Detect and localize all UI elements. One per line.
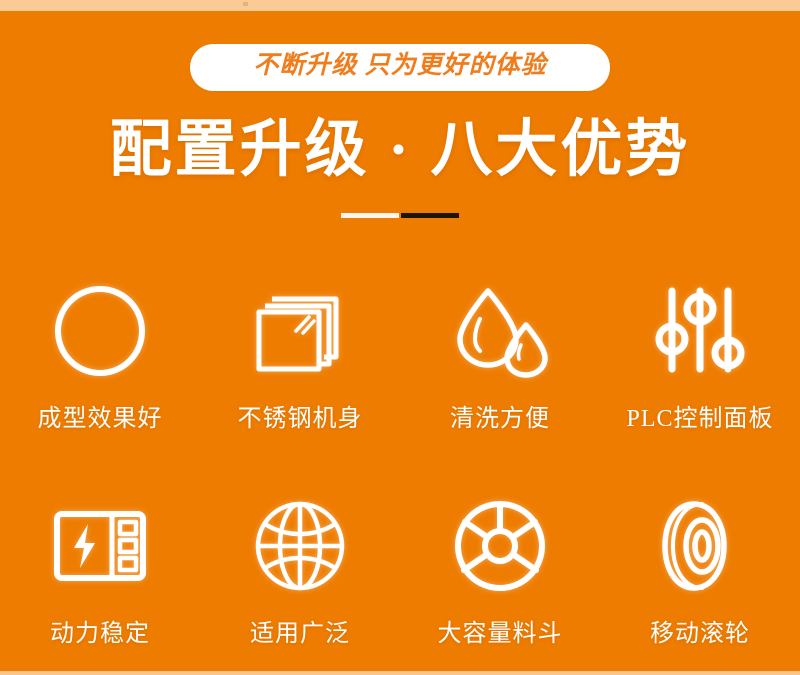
feature-item-2: 不锈钢机身 (200, 276, 400, 451)
feature-label-2: 不锈钢机身 (238, 398, 363, 433)
power-panel-bolt-icon (45, 491, 155, 601)
title-row: 配置升级 · 八大优势 (0, 114, 800, 187)
badge-row: 不断升级 只为更好的体验 (0, 44, 800, 91)
page-title: 配置升级 · 八大优势 (110, 114, 691, 187)
top-band-artifact (243, 2, 248, 6)
feature-item-7: 大容量料斗 (400, 491, 600, 666)
feature-label-8: 移动滚轮 (650, 613, 750, 648)
tagline-text: 不断升级 只为更好的体验 (253, 52, 546, 81)
divider-bar-light (341, 213, 399, 218)
hopper-wheel-icon (445, 491, 555, 601)
feature-label-5: 动力稳定 (50, 613, 150, 648)
bottom-trim-band (0, 671, 800, 675)
feature-label-7: 大容量料斗 (438, 613, 563, 648)
feature-item-5: 动力稳定 (0, 491, 200, 666)
promo-banner: 不断升级 只为更好的体验 配置升级 · 八大优势 成型效果好 (0, 11, 800, 671)
feature-label-1: 成型效果好 (38, 398, 163, 433)
slider-controls-icon (645, 276, 755, 386)
feature-label-4: PLC控制面板 (626, 398, 773, 433)
circle-outline-icon (45, 276, 155, 386)
feature-item-6: 适用广泛 (200, 491, 400, 666)
tagline-badge: 不断升级 只为更好的体验 (190, 44, 610, 91)
feature-grid: 成型效果好 不锈钢机身 (0, 276, 800, 666)
top-trim-band (0, 0, 800, 11)
water-droplets-icon (445, 276, 555, 386)
feature-item-3: 清洗方便 (400, 276, 600, 451)
feature-item-1: 成型效果好 (0, 276, 200, 451)
divider-bar-dark (401, 213, 459, 218)
feature-label-6: 适用广泛 (250, 613, 350, 648)
feature-label-3: 清洗方便 (450, 398, 550, 433)
caster-wheel-icon (645, 491, 755, 601)
feature-item-4: PLC控制面板 (600, 276, 800, 451)
globe-grid-icon (245, 491, 355, 601)
stacked-plates-icon (245, 276, 355, 386)
feature-item-8: 移动滚轮 (600, 491, 800, 666)
title-divider (0, 213, 800, 218)
